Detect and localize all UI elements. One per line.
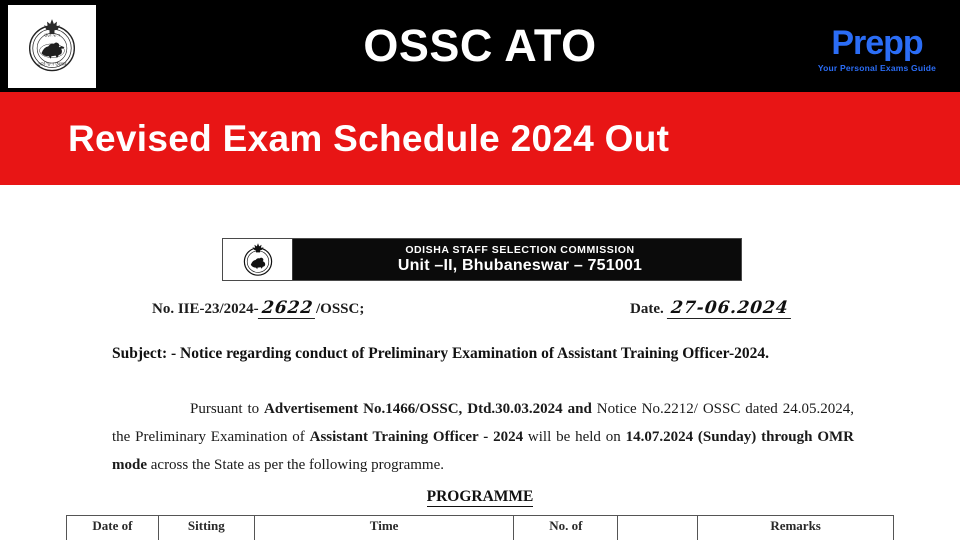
body-seg-4: Assistant Training Officer - 2024 bbox=[310, 429, 523, 445]
reference-number-suffix: /OSSC; bbox=[316, 301, 364, 317]
promo-screenshot: ଓଡिବा ଓଡिବा ଓरकार OSSC ATO Prepp Your Pe… bbox=[0, 0, 960, 540]
subject-line: Subject: - Notice regarding conduct of P… bbox=[112, 343, 852, 365]
document-date: Date. 27-06.2024 bbox=[630, 298, 791, 319]
headline-text: Revised Exam Schedule 2024 Out bbox=[68, 118, 669, 160]
programme-table: Date of Sitting Time No. of Remarks bbox=[66, 515, 894, 540]
letterhead-line-2: Unit –II, Bhubaneswar – 751001 bbox=[398, 257, 642, 275]
letterhead-line-1: ODISHA STAFF SELECTION COMMISSION bbox=[405, 244, 634, 256]
date-handwritten: 27-06.2024 bbox=[666, 298, 792, 319]
programme-heading-text: PROGRAMME bbox=[427, 488, 534, 507]
subject-label: Subject: - bbox=[112, 345, 176, 362]
col-date-of: Date of bbox=[67, 516, 159, 540]
prepp-brand-logo[interactable]: Prepp Your Personal Exams Guide bbox=[812, 20, 942, 78]
prepp-wordmark: Prepp bbox=[831, 26, 922, 60]
body-seg-5: will be held on bbox=[523, 429, 625, 445]
col-no-of: No. of bbox=[514, 516, 618, 540]
col-remarks: Remarks bbox=[698, 516, 894, 540]
letterhead-text-band: ODISHA STAFF SELECTION COMMISSION Unit –… bbox=[293, 239, 741, 280]
programme-heading: PROGRAMME bbox=[0, 488, 960, 506]
body-seg-1: Pursuant to bbox=[190, 401, 264, 417]
reference-number: No. IIE-23/2024-2622/OSSC; bbox=[152, 298, 364, 319]
notice-body-paragraph: Pursuant to Advertisement No.1466/OSSC, … bbox=[112, 396, 854, 479]
prepp-logo-rest: repp bbox=[853, 26, 923, 60]
letterhead-emblem-icon bbox=[223, 239, 293, 280]
letterhead: ODISHA STAFF SELECTION COMMISSION Unit –… bbox=[222, 238, 742, 281]
reference-number-prefix: No. IIE-23/2024- bbox=[152, 301, 259, 317]
body-seg-2: Advertisement No.1466/OSSC, Dtd.30.03.20… bbox=[264, 401, 592, 417]
date-label: Date. bbox=[630, 301, 664, 317]
notice-document-scan: ODISHA STAFF SELECTION COMMISSION Unit –… bbox=[0, 185, 960, 540]
reference-number-handwritten: 2622 bbox=[258, 298, 318, 319]
prepp-tagline: Your Personal Exams Guide bbox=[818, 63, 936, 73]
col-time: Time bbox=[254, 516, 514, 540]
subject-text: Notice regarding conduct of Preliminary … bbox=[180, 345, 769, 362]
body-seg-7: across the State as per the following pr… bbox=[147, 457, 444, 473]
col-blank bbox=[618, 516, 698, 540]
top-header-bar: ଓଡिବा ଓଡिବा ଓरकार OSSC ATO Prepp Your Pe… bbox=[0, 0, 960, 92]
prepp-logo-p: P bbox=[831, 26, 853, 60]
table-header-row: Date of Sitting Time No. of Remarks bbox=[67, 516, 894, 540]
headline-banner: Revised Exam Schedule 2024 Out bbox=[0, 92, 960, 185]
col-sitting: Sitting bbox=[158, 516, 254, 540]
